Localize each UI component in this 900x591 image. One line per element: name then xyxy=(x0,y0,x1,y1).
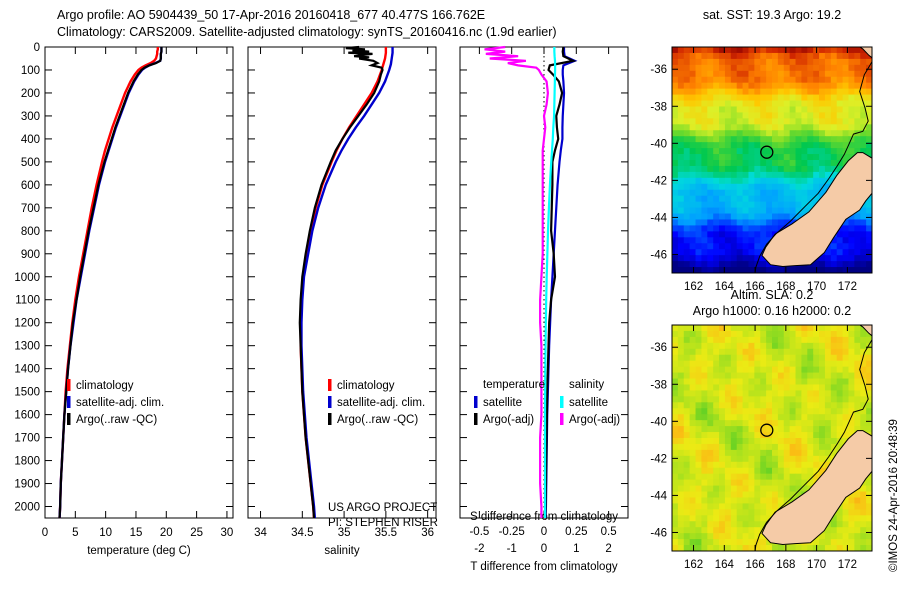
map-grid-cell xyxy=(678,202,684,209)
legend-swatch xyxy=(67,396,71,408)
map-grid-cell xyxy=(743,390,749,397)
map-grid-cell xyxy=(696,106,702,113)
map-grid-cell xyxy=(701,208,707,215)
map-grid-cell xyxy=(860,136,866,143)
map-grid-cell xyxy=(796,136,802,143)
map-grid-cell xyxy=(678,396,684,403)
map-grid-cell xyxy=(831,243,837,250)
map-grid-cell xyxy=(672,83,678,90)
map-grid-cell xyxy=(819,130,825,137)
map-grid-cell xyxy=(707,503,713,510)
map-grid-cell xyxy=(743,101,749,108)
map-grid-cell xyxy=(731,101,737,108)
map-grid-cell xyxy=(701,468,707,475)
map-grid-cell xyxy=(837,136,843,143)
map-grid-cell xyxy=(843,539,849,546)
map-grid-cell xyxy=(766,83,772,90)
map-grid-cell xyxy=(696,468,702,475)
map-grid-cell xyxy=(848,373,854,380)
map-grid-cell xyxy=(748,243,754,250)
map-grid-cell xyxy=(696,83,702,90)
map-grid-cell xyxy=(807,89,813,96)
map-grid-cell xyxy=(725,361,731,368)
map-grid-cell xyxy=(760,480,766,487)
map-grid-cell xyxy=(701,95,707,102)
legend-swatch xyxy=(474,396,478,408)
map-grid-cell xyxy=(825,89,831,96)
map-grid-cell xyxy=(772,214,778,221)
map-grid-cell xyxy=(748,509,754,516)
map-grid-cell xyxy=(801,71,807,78)
map-grid-cell xyxy=(719,231,725,238)
map-grid-cell xyxy=(737,130,743,137)
map-grid-cell xyxy=(825,349,831,356)
map-grid-cell xyxy=(725,379,731,386)
map-grid-cell xyxy=(707,379,713,386)
map-grid-cell xyxy=(696,367,702,374)
map-grid-cell xyxy=(684,367,690,374)
map-grid-cell xyxy=(707,509,713,516)
temperature-tick-label: 20 xyxy=(160,527,173,539)
legend-label: climatology xyxy=(337,380,395,392)
map-grid-cell xyxy=(701,190,707,197)
map-grid-cell xyxy=(778,420,784,427)
map-grid-cell xyxy=(725,343,731,350)
map-grid-cell xyxy=(701,450,707,457)
map-grid-cell xyxy=(696,527,702,534)
map-grid-cell xyxy=(754,172,760,179)
map-grid-cell xyxy=(713,509,719,516)
map-grid-cell xyxy=(672,444,678,451)
map-grid-cell xyxy=(731,527,737,534)
map-grid-cell xyxy=(672,480,678,487)
map-grid-cell xyxy=(860,237,866,244)
map-grid-cell xyxy=(790,53,796,60)
map-grid-cell xyxy=(831,261,837,268)
map-grid-cell xyxy=(860,249,866,256)
map-grid-cell xyxy=(819,349,825,356)
map-grid-cell xyxy=(772,95,778,102)
map-grid-cell xyxy=(678,65,684,72)
map-grid-cell xyxy=(796,101,802,108)
map-grid-cell xyxy=(707,190,713,197)
map-grid-cell xyxy=(748,101,754,108)
map-grid-cell xyxy=(796,160,802,167)
map-grid-cell xyxy=(678,190,684,197)
map-grid-cell xyxy=(784,142,790,149)
map-grid-cell xyxy=(713,361,719,368)
map-grid-cell xyxy=(772,343,778,350)
map-grid-cell xyxy=(801,373,807,380)
map-grid-cell xyxy=(754,154,760,161)
map-grid-cell xyxy=(772,462,778,469)
map-grid-cell xyxy=(725,396,731,403)
map-grid-cell xyxy=(684,53,690,60)
map-grid-cell xyxy=(690,184,696,191)
map-grid-cell xyxy=(848,118,854,125)
map-grid-cell xyxy=(690,142,696,149)
map-grid-cell xyxy=(784,214,790,221)
map-grid-cell xyxy=(831,118,837,125)
map-grid-cell xyxy=(707,142,713,149)
map-grid-cell xyxy=(743,361,749,368)
us-argo-project-label: US ARGO PROJECT xyxy=(328,502,437,514)
map-grid-cell xyxy=(790,325,796,332)
map-grid-cell xyxy=(713,337,719,344)
map-grid-cell xyxy=(825,255,831,262)
depth-tick-label: 0 xyxy=(34,42,40,54)
map-grid-cell xyxy=(737,231,743,238)
map-grid-cell xyxy=(731,432,737,439)
map-grid-cell xyxy=(801,172,807,179)
map-grid-cell xyxy=(696,373,702,380)
map-grid-cell xyxy=(819,112,825,119)
map-grid-cell xyxy=(831,106,837,113)
map-grid-cell xyxy=(837,148,843,155)
map-grid-cell xyxy=(819,178,825,185)
map-grid-cell xyxy=(748,202,754,209)
map-grid-cell xyxy=(737,47,743,54)
map-grid-cell xyxy=(743,515,749,522)
map-grid-cell xyxy=(713,396,719,403)
map-grid-cell xyxy=(807,71,813,78)
map-grid-cell xyxy=(819,456,825,463)
map-grid-cell xyxy=(766,208,772,215)
map-grid-cell xyxy=(813,444,819,451)
map-grid-cell xyxy=(672,438,678,445)
latitude-tick-label: -42 xyxy=(650,175,667,187)
map-grid-cell xyxy=(848,77,854,84)
map-grid-cell xyxy=(778,77,784,84)
map-grid-cell xyxy=(825,414,831,421)
map-grid-cell xyxy=(737,208,743,215)
map-grid-cell xyxy=(684,196,690,203)
map-grid-cell xyxy=(854,331,860,338)
map-grid-cell xyxy=(701,47,707,54)
map-grid-cell xyxy=(860,396,866,403)
map-grid-cell xyxy=(778,65,784,72)
map-grid-cell xyxy=(731,414,737,421)
map-grid-cell xyxy=(725,83,731,90)
map-grid-cell xyxy=(825,53,831,60)
map-grid-cell xyxy=(813,438,819,445)
map-grid-cell xyxy=(801,166,807,173)
map-grid-cell xyxy=(725,142,731,149)
map-grid-cell xyxy=(796,178,802,185)
map-grid-cell xyxy=(831,414,837,421)
map-grid-cell xyxy=(760,468,766,475)
legend-swatch xyxy=(560,413,564,425)
map-grid-cell xyxy=(807,148,813,155)
map-grid-cell xyxy=(860,142,866,149)
map-grid-cell xyxy=(684,480,690,487)
map-grid-cell xyxy=(854,118,860,125)
depth-tick-label: 500 xyxy=(21,157,40,169)
map-grid-cell xyxy=(772,190,778,197)
map-grid-cell xyxy=(684,492,690,499)
map-grid-cell xyxy=(731,480,737,487)
map-grid-cell xyxy=(701,533,707,540)
map-grid-cell xyxy=(690,480,696,487)
map-grid-cell xyxy=(748,208,754,215)
map-grid-cell xyxy=(760,124,766,131)
map-grid-cell xyxy=(790,184,796,191)
map-grid-cell xyxy=(848,343,854,350)
profile-line xyxy=(60,47,158,518)
map-grid-cell xyxy=(684,208,690,215)
map-grid-cell xyxy=(831,112,837,119)
map-grid-cell xyxy=(825,47,831,54)
map-grid-cell xyxy=(790,331,796,338)
map-grid-cell xyxy=(831,83,837,90)
map-grid-cell xyxy=(690,65,696,72)
map-grid-cell xyxy=(748,474,754,481)
map-grid-cell xyxy=(854,355,860,362)
map-grid-cell xyxy=(678,450,684,457)
map-grid-cell xyxy=(707,396,713,403)
map-grid-cell xyxy=(848,95,854,102)
map-grid-cell xyxy=(848,231,854,238)
map-grid-cell xyxy=(843,249,849,256)
sla-map-title-line-2: Argo h1000: 0.16 h2000: 0.2 xyxy=(693,304,851,318)
map-grid-cell xyxy=(725,492,731,499)
map-grid-cell xyxy=(831,361,837,368)
map-grid-cell xyxy=(690,349,696,356)
map-grid-cell xyxy=(725,420,731,427)
map-grid-cell xyxy=(819,444,825,451)
profile-line xyxy=(301,47,386,518)
map-grid-cell xyxy=(772,373,778,380)
map-grid-cell xyxy=(766,384,772,391)
latitude-tick-label: -44 xyxy=(650,212,667,224)
map-grid-cell xyxy=(760,130,766,137)
map-grid-cell xyxy=(719,509,725,516)
map-grid-cell xyxy=(801,390,807,397)
map-grid-cell xyxy=(813,160,819,167)
s-difference-tick-label: -0.25 xyxy=(499,526,525,538)
map-grid-cell xyxy=(760,444,766,451)
map-grid-cell xyxy=(760,515,766,522)
map-grid-cell xyxy=(696,509,702,516)
map-grid-cell xyxy=(690,136,696,143)
map-grid-cell xyxy=(813,166,819,173)
depth-tick-label: 700 xyxy=(21,203,40,215)
map-grid-cell xyxy=(854,112,860,119)
map-grid-cell xyxy=(707,432,713,439)
map-grid-cell xyxy=(707,184,713,191)
map-grid-cell xyxy=(754,361,760,368)
map-grid-cell xyxy=(772,219,778,226)
map-grid-cell xyxy=(772,184,778,191)
map-grid-cell xyxy=(684,112,690,119)
longitude-tick-label: 166 xyxy=(745,559,764,571)
map-grid-cell xyxy=(790,71,796,78)
map-grid-cell xyxy=(713,384,719,391)
temperature-tick-label: 10 xyxy=(99,527,112,539)
map-grid-cell xyxy=(796,124,802,131)
map-grid-cell xyxy=(778,450,784,457)
map-grid-cell xyxy=(772,456,778,463)
map-grid-cell xyxy=(790,343,796,350)
map-grid-cell xyxy=(796,130,802,137)
map-grid-cell xyxy=(690,190,696,197)
map-grid-cell xyxy=(860,509,866,516)
map-grid-cell xyxy=(696,112,702,119)
map-grid-cell xyxy=(690,474,696,481)
map-grid-cell xyxy=(807,178,813,185)
map-grid-cell xyxy=(725,243,731,250)
map-grid-cell xyxy=(796,83,802,90)
map-grid-cell xyxy=(719,142,725,149)
map-grid-cell xyxy=(807,190,813,197)
temperature-tick-label: 30 xyxy=(221,527,234,539)
map-grid-cell xyxy=(807,83,813,90)
map-grid-cell xyxy=(684,225,690,232)
map-grid-cell xyxy=(737,361,743,368)
map-grid-cell xyxy=(737,420,743,427)
map-grid-cell xyxy=(825,160,831,167)
map-grid-cell xyxy=(725,384,731,391)
map-grid-cell xyxy=(819,124,825,131)
map-grid-cell xyxy=(837,384,843,391)
map-grid-cell xyxy=(854,77,860,84)
map-grid-cell xyxy=(825,396,831,403)
map-grid-cell xyxy=(754,101,760,108)
map-grid-cell xyxy=(748,355,754,362)
longitude-tick-label: 164 xyxy=(715,559,735,571)
map-grid-cell xyxy=(772,77,778,84)
map-grid-cell xyxy=(713,456,719,463)
map-grid-cell xyxy=(748,456,754,463)
map-grid-cell xyxy=(696,202,702,209)
map-grid-cell xyxy=(784,89,790,96)
map-grid-cell xyxy=(748,497,754,504)
map-grid-cell xyxy=(743,438,749,445)
map-grid-cell xyxy=(813,462,819,469)
map-grid-cell xyxy=(737,384,743,391)
map-grid-cell xyxy=(796,379,802,386)
map-grid-cell xyxy=(713,450,719,457)
map-grid-cell xyxy=(725,249,731,256)
map-grid-cell xyxy=(678,444,684,451)
map-grid-cell xyxy=(796,474,802,481)
map-grid-cell xyxy=(854,95,860,102)
map-grid-cell xyxy=(790,106,796,113)
map-grid-cell xyxy=(713,130,719,137)
map-grid-cell xyxy=(684,432,690,439)
map-grid-cell xyxy=(860,225,866,232)
map-grid-cell xyxy=(784,101,790,108)
map-grid-cell xyxy=(719,154,725,161)
map-grid-cell xyxy=(843,47,849,54)
map-grid-cell xyxy=(848,355,854,362)
map-grid-cell xyxy=(690,53,696,60)
map-grid-cell xyxy=(843,124,849,131)
map-grid-cell xyxy=(737,426,743,433)
map-grid-cell xyxy=(860,118,866,125)
map-grid-cell xyxy=(725,509,731,516)
s-difference-tick-label: 0 xyxy=(541,526,547,538)
map-grid-cell xyxy=(725,462,731,469)
map-grid-cell xyxy=(672,202,678,209)
map-grid-cell xyxy=(701,432,707,439)
map-grid-cell xyxy=(801,361,807,368)
map-grid-cell xyxy=(737,89,743,96)
map-grid-cell xyxy=(678,438,684,445)
map-grid-cell xyxy=(719,408,725,415)
map-grid-cell xyxy=(731,420,737,427)
map-grid-cell xyxy=(801,160,807,167)
map-grid-cell xyxy=(678,414,684,421)
map-grid-cell xyxy=(772,83,778,90)
map-grid-cell xyxy=(678,237,684,244)
map-grid-cell xyxy=(766,325,772,332)
map-grid-cell xyxy=(748,89,754,96)
map-grid-cell xyxy=(690,261,696,268)
map-grid-cell xyxy=(743,219,749,226)
map-grid-cell xyxy=(748,396,754,403)
map-grid-cell xyxy=(760,112,766,119)
map-grid-cell xyxy=(707,492,713,499)
map-grid-cell xyxy=(807,432,813,439)
map-grid-cell xyxy=(731,331,737,338)
map-grid-cell xyxy=(678,355,684,362)
map-grid-cell xyxy=(825,390,831,397)
map-grid-cell xyxy=(672,124,678,131)
map-grid-cell xyxy=(766,59,772,66)
map-grid-cell xyxy=(790,154,796,161)
map-grid-cell xyxy=(743,112,749,119)
map-grid-cell xyxy=(825,172,831,179)
map-grid-cell xyxy=(731,89,737,96)
map-grid-cell xyxy=(713,420,719,427)
map-grid-cell xyxy=(837,249,843,256)
map-grid-cell xyxy=(701,225,707,232)
map-grid-cell xyxy=(743,59,749,66)
map-grid-cell xyxy=(707,497,713,504)
map-grid-cell xyxy=(701,438,707,445)
map-grid-cell xyxy=(672,515,678,522)
map-grid-cell xyxy=(678,390,684,397)
map-grid-cell xyxy=(690,249,696,256)
map-grid-cell xyxy=(719,243,725,250)
map-grid-cell xyxy=(848,331,854,338)
map-grid-cell xyxy=(854,124,860,131)
map-grid-cell xyxy=(696,414,702,421)
map-grid-cell xyxy=(796,444,802,451)
map-grid-cell xyxy=(731,59,737,66)
map-grid-cell xyxy=(819,148,825,155)
map-grid-cell xyxy=(684,101,690,108)
legend-label: satellite-adj. clim. xyxy=(76,397,164,409)
map-grid-cell xyxy=(772,325,778,332)
map-grid-cell xyxy=(754,142,760,149)
map-grid-cell xyxy=(713,444,719,451)
map-grid-cell xyxy=(796,462,802,469)
salinity-axis-label: salinity xyxy=(324,545,359,557)
map-grid-cell xyxy=(813,65,819,72)
map-grid-cell xyxy=(784,420,790,427)
map-grid-cell xyxy=(772,355,778,362)
map-grid-cell xyxy=(796,367,802,374)
map-grid-cell xyxy=(731,408,737,415)
map-grid-cell xyxy=(684,474,690,481)
map-grid-cell xyxy=(796,325,802,332)
map-grid-cell xyxy=(696,331,702,338)
depth-tick-label: 200 xyxy=(21,88,40,100)
map-grid-cell xyxy=(807,349,813,356)
map-grid-cell xyxy=(754,148,760,155)
